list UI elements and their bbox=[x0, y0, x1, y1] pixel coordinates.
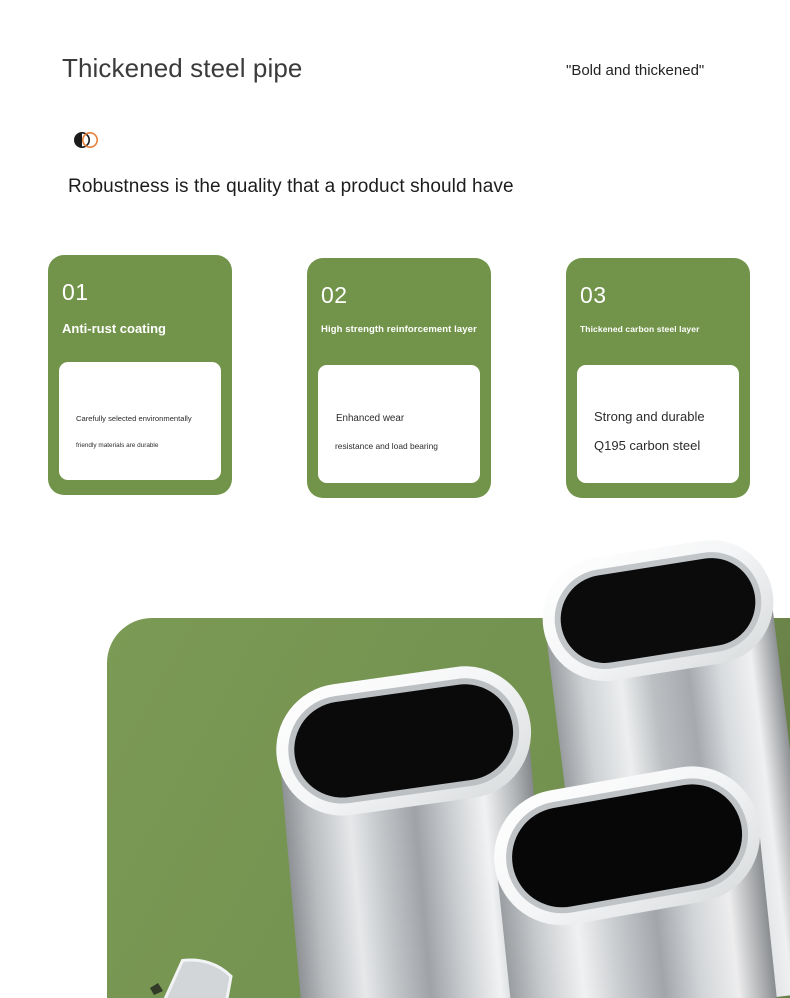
card-number: 01 bbox=[62, 281, 88, 304]
card-body-panel: Carefully selected environmentally frien… bbox=[59, 362, 221, 480]
card-body-line-2: friendly materials are durable bbox=[76, 442, 158, 449]
page-title: Thickened steel pipe bbox=[62, 53, 302, 84]
product-photo bbox=[0, 540, 790, 998]
page-tagline: "Bold and thickened" bbox=[566, 62, 704, 79]
card-body-line-1: Enhanced wear bbox=[336, 413, 404, 424]
card-body-line-2: Q195 carbon steel bbox=[594, 438, 700, 453]
card-heading: High strength reinforcement layer bbox=[321, 324, 477, 335]
card-body-panel: Enhanced wear resistance and load bearin… bbox=[318, 365, 480, 483]
feature-card-02: 02 High strength reinforcement layer Enh… bbox=[307, 258, 491, 498]
card-heading: Thickened carbon steel layer bbox=[580, 324, 700, 334]
feature-card-row: 01 Anti-rust coating Carefully selected … bbox=[0, 250, 790, 500]
card-number: 02 bbox=[321, 284, 347, 307]
card-number: 03 bbox=[580, 284, 606, 307]
card-body-line-1: Carefully selected environmentally bbox=[76, 414, 192, 423]
card-body-line-1: Strong and durable bbox=[594, 409, 705, 424]
feature-card-03: 03 Thickened carbon steel layer Strong a… bbox=[566, 258, 750, 498]
feature-card-01: 01 Anti-rust coating Carefully selected … bbox=[48, 255, 232, 495]
product-detail-page: Thickened steel pipe "Bold and thickened… bbox=[0, 0, 790, 998]
card-heading: Anti-rust coating bbox=[62, 321, 166, 337]
lead-statement: Robustness is the quality that a product… bbox=[68, 176, 514, 198]
card-body-line-2: resistance and load bearing bbox=[335, 441, 438, 451]
two-overlapping-circles-icon bbox=[71, 130, 103, 150]
card-body-panel: Strong and durable Q195 carbon steel bbox=[577, 365, 739, 483]
